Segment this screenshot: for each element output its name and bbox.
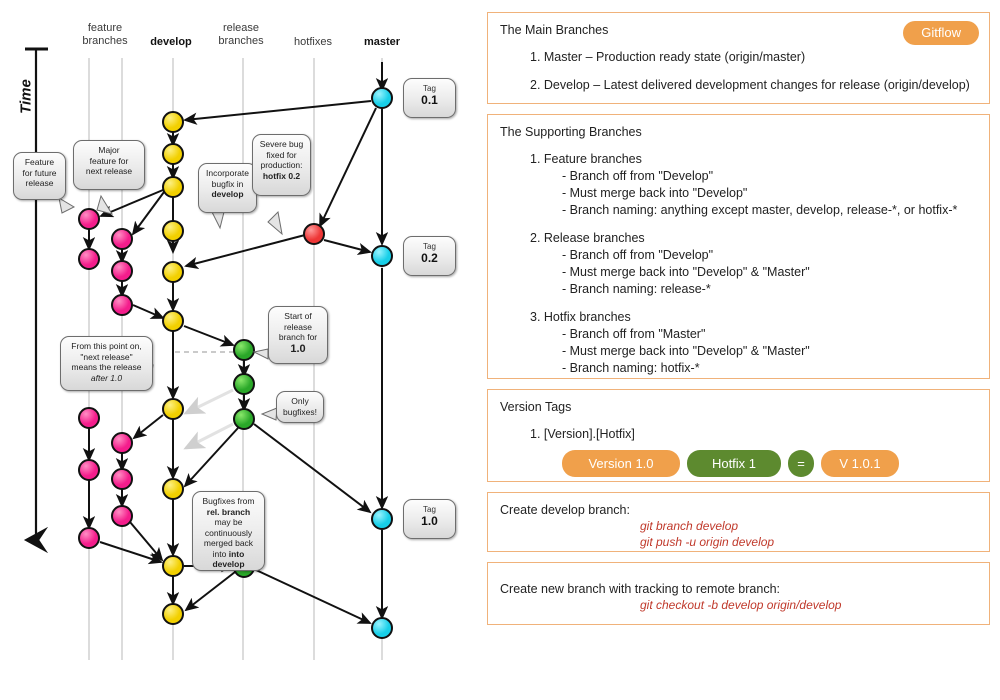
git-command: git branch develop <box>640 518 977 534</box>
feature-commit-node <box>79 249 99 269</box>
callout-severe-bug-hotfix: Severe bug fixed for production: hotfix … <box>252 134 311 196</box>
supporting-bullet: - Branch off from "Develop" <box>562 168 977 185</box>
develop-commit-node <box>163 399 183 419</box>
hotfix-pill: Hotfix 1 <box>687 450 781 477</box>
callout-line: Severe bug <box>258 139 305 150</box>
feature-commit-node <box>112 506 132 526</box>
callout-bugfixes-merged-back: Bugfixes from rel. branch may be continu… <box>192 491 265 571</box>
version-pill-row: Version 1.0 Hotfix 1 = V 1.0.1 <box>562 450 977 477</box>
equals-pill: = <box>788 450 814 477</box>
supporting-group-heading: 1. Feature branches <box>530 150 977 168</box>
callout-line: rel. branch <box>198 507 259 518</box>
callout-line: after 1.0 <box>66 373 147 384</box>
panel-version-tags: Version Tags 1. [Version].[Hotfix] Versi… <box>487 389 990 482</box>
develop-commit-node <box>163 262 183 282</box>
master-commit-node <box>372 618 392 638</box>
callout-line: bugfixes! <box>282 407 318 418</box>
callout-line: Feature <box>19 157 60 168</box>
supporting-bullet: - Branch naming: release-* <box>562 281 977 298</box>
time-arrow <box>25 49 48 540</box>
develop-commit-node <box>163 144 183 164</box>
develop-commit-node <box>163 311 183 331</box>
panel-create-develop-branch: Create develop branch: git branch develo… <box>487 492 990 552</box>
supporting-bullet: - Branch off from "Master" <box>562 326 977 343</box>
develop-commit-node <box>163 479 183 499</box>
tag-label: Tag <box>404 242 455 251</box>
supporting-bullet: - Branch off from "Develop" <box>562 247 977 264</box>
gitflow-badge: Gitflow <box>903 21 979 45</box>
callout-line: branch for <box>274 332 322 343</box>
callout-line: production: <box>258 160 305 171</box>
panel-supporting-branches: The Supporting Branches 1. Feature branc… <box>487 114 990 379</box>
callout-incorporate-bugfix-in-develop: Incorporate bugfix in develop <box>198 163 257 213</box>
callout-line: Only <box>282 396 318 407</box>
master-commit-node <box>372 509 392 529</box>
callout-start-of-release-branch: Start of release branch for 1.0 <box>268 306 328 364</box>
release-commit-node <box>234 409 254 429</box>
panel-title: Create new branch with tracking to remot… <box>500 581 977 597</box>
version-pill: Version 1.0 <box>562 450 680 477</box>
panel-title: Version Tags <box>500 399 977 415</box>
callout-line: "next release" <box>66 352 147 363</box>
callout-line: may be <box>198 517 259 528</box>
callout-line: continuously <box>198 528 259 539</box>
callout-line: for future <box>19 168 60 179</box>
hotfix-commit-node <box>304 224 324 244</box>
feature-commit-node <box>112 229 132 249</box>
callout-line: feature for <box>79 156 139 167</box>
feature-commit-node <box>112 295 132 315</box>
supporting-bullet: - Branch naming: anything except master,… <box>562 202 977 219</box>
develop-commit-node <box>163 221 183 241</box>
tag-box-0-2: Tag 0.2 <box>403 236 456 276</box>
tag-version: 0.1 <box>404 93 455 107</box>
callout-line: bugfix in <box>204 179 251 190</box>
gitflow-branch-diagram: feature branches develop release branche… <box>0 0 478 700</box>
git-command: git push -u origin develop <box>640 534 977 550</box>
develop-commit-node <box>163 604 183 624</box>
callout-line: develop <box>204 189 251 200</box>
callout-line: Major <box>79 145 139 156</box>
callout-line: Incorporate <box>204 168 251 179</box>
master-commit-node <box>372 88 392 108</box>
callout-line: release <box>274 322 322 333</box>
callout-line: means the release <box>66 362 147 373</box>
feature-commit-node <box>79 209 99 229</box>
feature-commit-node <box>112 261 132 281</box>
develop-commit-node <box>163 177 183 197</box>
supporting-bullet: - Branch naming: hotfix-* <box>562 360 977 377</box>
feature-commit-node <box>79 460 99 480</box>
panel-title: Create develop branch: <box>500 502 977 518</box>
info-panels: The Main Branches Gitflow 1. Master – Pr… <box>487 12 990 635</box>
supporting-bullet: - Must merge back into "Develop" & "Mast… <box>562 264 977 281</box>
callout-line: hotfix 0.2 <box>258 171 305 182</box>
master-commit-node <box>372 246 392 266</box>
main-branch-item: 2. Develop – Latest delivered developmen… <box>530 76 977 94</box>
callout-line: merged back <box>198 538 259 549</box>
supporting-group-heading: 2. Release branches <box>530 229 977 247</box>
result-pill: V 1.0.1 <box>821 450 899 477</box>
feature-commit-node <box>79 528 99 548</box>
tag-label: Tag <box>404 84 455 93</box>
callout-line: next release <box>79 166 139 177</box>
callout-major-feature-next-release: Major feature for next release <box>73 140 145 190</box>
callout-line: fixed for <box>258 150 305 161</box>
panel-main-branches: The Main Branches Gitflow 1. Master – Pr… <box>487 12 990 104</box>
release-commit-node <box>234 374 254 394</box>
callout-line: 1.0 <box>274 343 322 356</box>
callout-next-release-meaning: From this point on, "next release" means… <box>60 336 153 391</box>
callout-line: into into develop <box>198 549 259 570</box>
gitflow-infographic: feature branches develop release branche… <box>0 0 1000 700</box>
feature-commit-node <box>112 433 132 453</box>
callout-only-bugfixes: Only bugfixes! <box>276 391 324 423</box>
feature-commit-node <box>79 408 99 428</box>
callout-line: release <box>19 178 60 189</box>
tag-box-0-1: Tag 0.1 <box>403 78 456 118</box>
git-command: git checkout -b develop origin/develop <box>640 597 977 613</box>
tag-label: Tag <box>404 505 455 514</box>
callout-line: From this point on, <box>66 341 147 352</box>
tag-box-1-0: Tag 1.0 <box>403 499 456 539</box>
develop-commit-node <box>163 556 183 576</box>
tag-version: 1.0 <box>404 514 455 528</box>
main-branch-item: 1. Master – Production ready state (orig… <box>530 48 977 66</box>
feature-commit-node <box>112 469 132 489</box>
panel-title: The Supporting Branches <box>500 124 977 140</box>
supporting-bullet: - Must merge back into "Develop" <box>562 185 977 202</box>
develop-commit-node <box>163 112 183 132</box>
tag-version: 0.2 <box>404 251 455 265</box>
callout-feature-for-future-release: Feature for future release <box>13 152 66 200</box>
callout-line: Bugfixes from <box>198 496 259 507</box>
supporting-group-heading: 3. Hotfix branches <box>530 308 977 326</box>
release-commit-node <box>234 340 254 360</box>
supporting-bullet: - Must merge back into "Develop" & "Mast… <box>562 343 977 360</box>
version-format-item: 1. [Version].[Hotfix] <box>530 425 977 443</box>
panel-create-tracking-branch: Create new branch with tracking to remot… <box>487 562 990 625</box>
callout-line: Start of <box>274 311 322 322</box>
